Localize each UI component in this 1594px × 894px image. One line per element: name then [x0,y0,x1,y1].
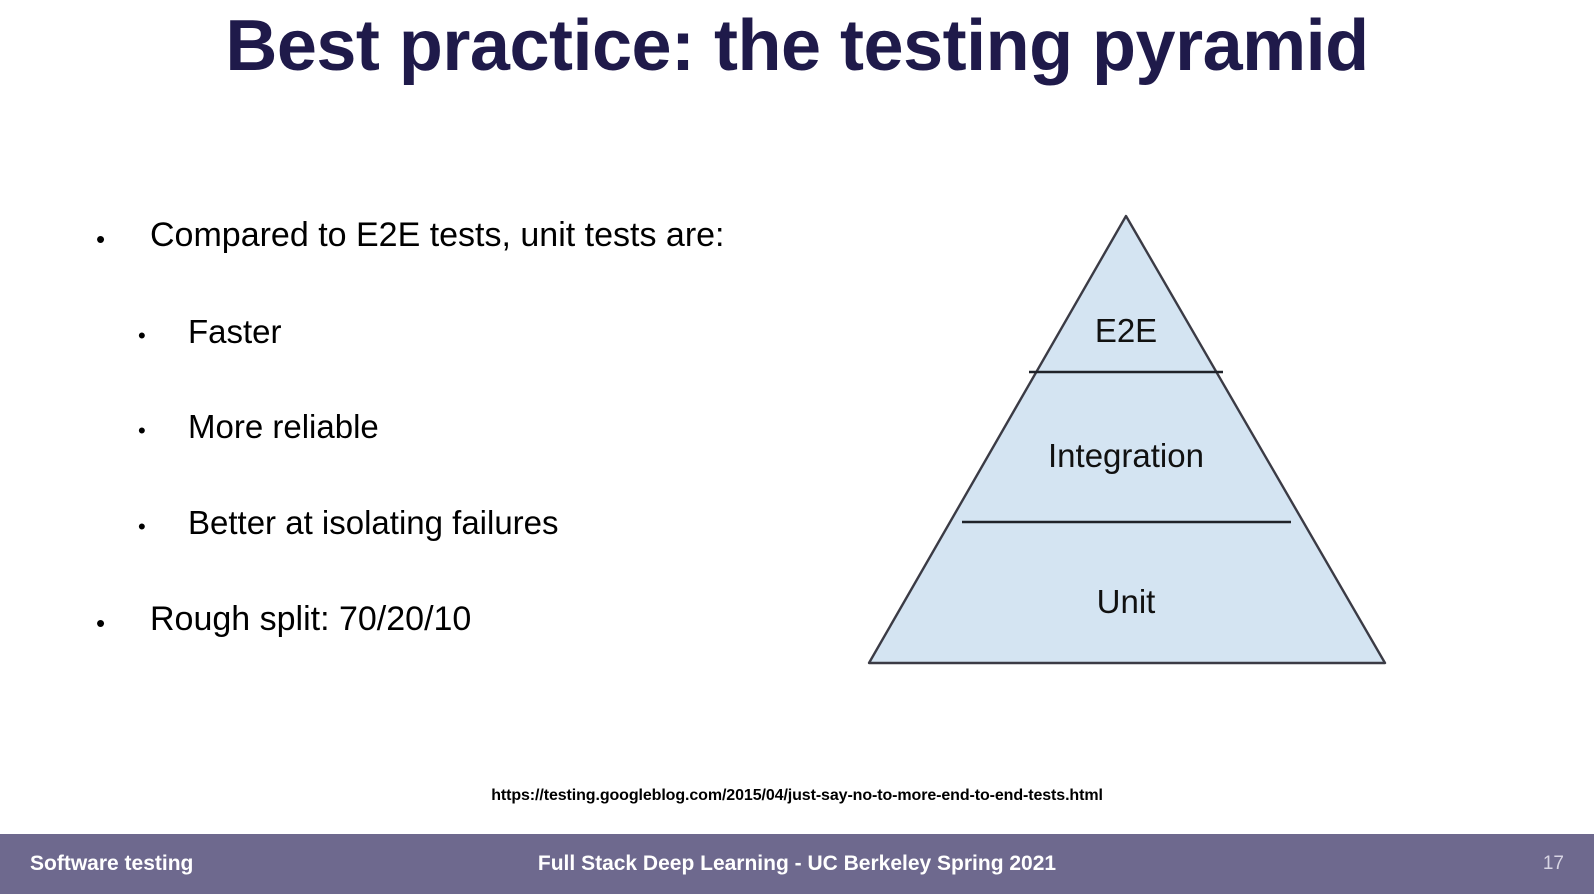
bullet-dot-icon: • [96,599,150,636]
list-item-label: Better at isolating failures [188,503,856,543]
footer-course-label: Full Stack Deep Learning - UC Berkeley S… [0,834,1594,894]
testing-pyramid-diagram: E2E Integration Unit [858,205,1398,677]
list-item-label: Compared to E2E tests, unit tests are: [150,215,856,256]
list-item-label: Rough split: 70/20/10 [150,599,856,640]
footer-bar: Full Stack Deep Learning - UC Berkeley S… [0,834,1594,894]
pyramid-tier-label-e2e: E2E [1095,312,1157,349]
bullet-list: • Compared to E2E tests, unit tests are:… [96,215,856,639]
source-url[interactable]: https://testing.googleblog.com/2015/04/j… [0,787,1594,805]
list-item: • Faster [138,312,856,352]
list-item: • More reliable [138,407,856,447]
slide: Best practice: the testing pyramid • Com… [0,0,1594,894]
pyramid-tier-label-unit: Unit [1097,583,1156,620]
bullet-dot-icon: • [96,215,150,252]
list-item: • Compared to E2E tests, unit tests are: [96,215,856,256]
bullet-dot-icon: • [138,407,188,442]
footer-section-label: Software testing [30,834,193,894]
pyramid-tier-label-integration: Integration [1048,437,1204,474]
list-item: • Rough split: 70/20/10 [96,599,856,640]
list-item-label: More reliable [188,407,856,447]
page-title: Best practice: the testing pyramid [0,6,1594,87]
bullet-dot-icon: • [138,312,188,347]
bullet-dot-icon: • [138,503,188,538]
list-item-label: Faster [188,312,856,352]
list-item: • Better at isolating failures [138,503,856,543]
footer-page-number: 17 [1543,834,1564,894]
